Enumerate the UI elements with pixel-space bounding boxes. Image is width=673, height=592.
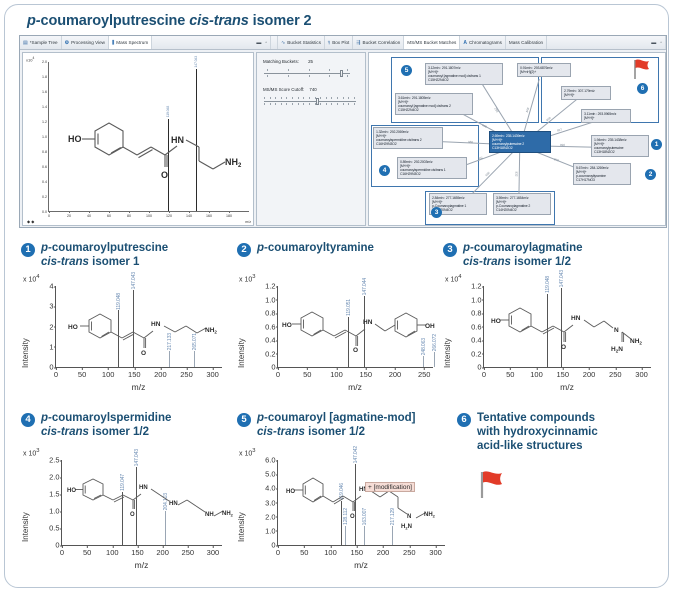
panel-4-caption-line2: isomer 1/2 — [89, 426, 149, 438]
tab-sample-tree-label: *Sample Tree — [30, 40, 58, 45]
svg-text:NH2: NH2 — [222, 511, 234, 517]
network-node-6b[interactable]: 2.79min : 307.179m/z [M+H]+ — [561, 86, 611, 100]
panel-6-caption: 6 Tentative compounds with hydroxycinnam… — [457, 412, 652, 453]
main-spectrum-x-tick: 20 — [67, 214, 71, 218]
chart-y-axis-label: Intensity — [237, 476, 246, 542]
panel-1-caption: 1 p-coumaroylputrescine cis-trans isomer… — [21, 242, 221, 270]
chart-x-tick: 150 — [128, 370, 141, 379]
chart-peak — [434, 352, 435, 367]
tabbar-divider — [271, 36, 278, 49]
chart-x-tick: 200 — [156, 548, 169, 557]
chart-y-tick: 1 — [49, 342, 53, 351]
panel-6-caption-text: Tentative compounds with hydroxycinnamic… — [477, 412, 598, 453]
main-spectrum-x-tick: 140 — [186, 214, 192, 218]
chart-x-tick: 50 — [83, 548, 91, 557]
chart-y-tick: 3.0 — [265, 498, 275, 507]
chart-y-tick: 1.2 — [471, 282, 481, 291]
network-badge-5: 5 — [401, 65, 412, 76]
network-edge-label: 903 — [485, 171, 491, 177]
panel-6-red-flag-icon — [477, 468, 507, 505]
network-node-3b[interactable]: 3.59min : 277.1654m/z [M+H]+ p-Coumaroyl… — [493, 193, 551, 215]
matching-buckets-value: 25 — [308, 59, 313, 64]
gears-icon: ⚙ — [65, 40, 69, 46]
chart-peak — [392, 526, 393, 545]
right-tab-group: ∿ Bucket Statistics ⫯ Box Plot ⇶ Bucket … — [278, 36, 547, 49]
chart-plot-area: 2.52.01.51.00.50050100150200250300119.04… — [61, 460, 222, 546]
network-node-5b[interactable]: 3.61min : 291.1805m/z [M+H]+ coumaroyl [… — [395, 93, 473, 115]
chart-peak — [169, 351, 170, 367]
main-spectrum-y-tick: 1.2 — [42, 120, 47, 124]
network-node-5a[interactable]: 3.12min : 291.1807m/z [M+H]+ coumaroyl [… — [425, 63, 503, 85]
chart-y-tick: 0.6 — [265, 322, 275, 331]
main-spectrum-x-tick: 100 — [146, 214, 152, 218]
chart-peak-label: 119.051 — [346, 299, 352, 316]
chart-peak-label: 119.047 — [120, 474, 126, 491]
chart-x-tick: 50 — [303, 370, 311, 379]
chart-peak — [194, 351, 195, 367]
panel-3-caption-line2: isomer 1/2 — [511, 256, 571, 268]
main-spectrum-plot-area: 020406080100120140160180119.048147.043 — [48, 62, 249, 212]
matching-buckets-slider[interactable] — [264, 69, 350, 77]
chart-y-tick: 0.6 — [471, 322, 481, 331]
panel-3-caption-line1: coumaroylagmatine — [474, 242, 583, 254]
chart-y-tick: 5.0 — [265, 470, 275, 479]
tab-bar: ▤ *Sample Tree ⚙ Processing View ⫼ Mass … — [20, 36, 666, 50]
panel-6-caption-line2: with hydroxycinnamic — [477, 426, 598, 438]
tab-mass-spectrum[interactable]: ⫼ Mass Spectrum — [109, 36, 152, 49]
chart-peak-label: 163.007 — [362, 508, 368, 525]
chart-x-axis-label: m/z — [483, 382, 651, 392]
chart-x-axis-label: m/z — [277, 382, 433, 392]
network-badge-2: 2 — [645, 169, 656, 180]
chart-y-tick: 0.4 — [265, 336, 275, 345]
panel-5-caption-line1: coumaroyl [agmatine-mod] — [268, 412, 416, 424]
chart-x-tick: 0 — [276, 370, 280, 379]
chart-peak-label: 217.129 — [390, 508, 396, 525]
chart-peak-label: 147.042 — [353, 446, 359, 463]
panel-1-caption-line2: isomer 1 — [89, 256, 140, 268]
panel-5: 5 p-coumaroyl [agmatine-mod] cis-trans i… — [237, 412, 457, 580]
panel-5-caption: 5 p-coumaroyl [agmatine-mod] cis-trans i… — [237, 412, 452, 440]
chart-x-tick: 300 — [206, 370, 219, 379]
main-spectrum-y-tick: 0.2 — [42, 195, 47, 199]
main-spectrum-x-tick: 120 — [166, 214, 172, 218]
chart-peak-label: 147.043 — [134, 449, 140, 466]
right-window-controls: ▬ ▫ — [547, 36, 666, 49]
main-spectrum-y-tick: 0.8 — [42, 150, 47, 154]
chart-x-tick: 200 — [377, 548, 390, 557]
chart-peak-label: 119.048 — [545, 276, 551, 293]
matching-buckets-slider-track — [264, 73, 350, 74]
left-window-controls: ▬ ▫ — [152, 36, 271, 49]
network-node-1[interactable]: 1.94min : 235.1438m/z [M+H]+ coumaroylpu… — [591, 135, 649, 157]
main-spectrum-x-tick: 160 — [206, 214, 212, 218]
panel-4-caption: 4 p-coumaroylspermidine cis-trans isomer… — [21, 412, 226, 440]
network-edge-label: 756 — [478, 155, 484, 160]
stats-icon: ∿ — [281, 40, 285, 46]
chart-x-tick: 0 — [54, 370, 58, 379]
chart-x-tick: 150 — [359, 370, 372, 379]
chart-peak-label: 119.046 — [339, 483, 345, 500]
tree-icon: ▤ — [23, 40, 28, 46]
chart-x-tick: 250 — [609, 370, 622, 379]
chart-peak-label: 147.043 — [131, 272, 137, 289]
chart-peak — [355, 464, 356, 545]
network-node-4a[interactable]: 1.32min : 292.2069m/z [M+H]+ coumaroylsp… — [373, 127, 443, 149]
panel-1: 1 p-coumaroylputrescine cis-trans isomer… — [21, 242, 233, 402]
chart-y-exponent: x 104 — [445, 274, 461, 283]
network-edge-label: 919 — [545, 116, 551, 122]
panel-1-caption-line1: coumaroylputrescine — [52, 242, 168, 254]
panel-6: 6 Tentative compounds with hydroxycinnam… — [457, 412, 657, 532]
score-cutoff-slider-thumb[interactable] — [316, 98, 319, 105]
chart-x-tick: 100 — [324, 548, 337, 557]
chart-x-tick: 50 — [78, 370, 86, 379]
panel-2-caption: 2 p-coumaroyltyramine — [237, 242, 437, 257]
chart-y-tick: 4 — [49, 282, 53, 291]
chart-x-tick: 0 — [482, 370, 486, 379]
chart-x-tick: 150 — [131, 548, 144, 557]
chart-x-tick: 50 — [300, 548, 308, 557]
chart-plot-area: 6.05.04.03.02.01.00050100150200250300128… — [277, 460, 445, 546]
score-cutoff-slider[interactable] — [264, 97, 356, 105]
panel-2-chart: x 103Intensity1.21.00.80.60.40.200501001… — [237, 276, 437, 398]
chart-y-tick: 1.0 — [265, 295, 275, 304]
main-spectrum-peak-label: 119.048 — [166, 106, 170, 117]
correlation-icon: ⇶ — [356, 40, 360, 46]
title-isomer-type: cis-trans — [189, 13, 249, 29]
panel-4: 4 p-coumaroylspermidine cis-trans isomer… — [21, 412, 233, 580]
panel-3-caption-prefix: p- — [463, 242, 474, 254]
panel-1-number: 1 — [21, 243, 35, 257]
chart-y-tick: 2.0 — [49, 473, 59, 482]
chart-y-tick: 0.8 — [265, 309, 275, 318]
chart-y-exponent: x 104 — [23, 274, 39, 283]
chart-peak-label: 217.133 — [167, 333, 173, 350]
tab-mass-calibration[interactable]: Mass Calibration — [506, 36, 547, 49]
panel-3-caption: 3 p-coumaroylagmatine cis-trans isomer 1… — [443, 242, 658, 270]
tab-chromatograms[interactable]: A Chromatograms — [460, 36, 506, 49]
chart-x-tick: 200 — [583, 370, 596, 379]
tab-processing-view[interactable]: ⚙ Processing View — [62, 36, 109, 49]
network-node-6c[interactable]: 3.11min : 293.0965m/z [M+H]+ — [581, 109, 631, 123]
chart-peak — [348, 317, 349, 367]
panel-2-number: 2 — [237, 243, 251, 257]
chart-plot-area: 1.21.00.80.60.40.20050100150200250300119… — [483, 286, 651, 368]
score-cutoff-slider-ticks-lower — [264, 103, 356, 106]
panel-5-caption-prefix: p- — [257, 412, 268, 424]
chart-peak-label: 128.112 — [343, 508, 349, 525]
panel-3: 3 p-coumaroylagmatine cis-trans isomer 1… — [443, 242, 661, 402]
tab-box-plot[interactable]: ⫯ Box Plot — [325, 36, 353, 49]
chart-peak — [133, 290, 134, 367]
tab-msms-bucket-matches-label: MS/MS Bucket Matches — [407, 40, 456, 45]
chart-plot-area: 43210050100150200250300119.048147.043217… — [55, 286, 222, 368]
chart-x-tick: 300 — [207, 548, 220, 557]
chart-x-axis-label: m/z — [277, 560, 445, 570]
panel-4-caption-line1: coumaroylspermidine — [52, 412, 172, 424]
figure-frame: p-coumaroylputrescine cis-trans isomer 2… — [4, 4, 669, 588]
network-node-2[interactable]: 5.67min : 284.1269m/z [M+H]+ p-coumaroyl… — [573, 163, 631, 185]
main-spectrum-axis-marks: ◆ ◆ — [27, 219, 34, 224]
panel-2-caption-text: p-coumaroyltyramine — [257, 242, 374, 256]
main-spectrum-x-tick: 0 — [48, 214, 50, 218]
chart-peak-label: 266.072 — [432, 334, 438, 351]
chart-y-tick: 0 — [477, 363, 481, 372]
network-node-4b[interactable]: 0.89min : 292.2003m/z [M+H]+ coumaroylsp… — [397, 157, 467, 179]
network-edge-label: 896 — [468, 140, 473, 144]
chart-y-axis-label: Intensity — [237, 302, 246, 368]
panel-5-caption-line2: isomer 1/2 — [305, 426, 365, 438]
tab-bucket-correlation[interactable]: ⇶ Bucket Correlation — [353, 36, 404, 49]
chart-plot-area: 1.21.00.80.60.40.20050100150200250119.05… — [277, 286, 433, 368]
chart-x-tick: 100 — [330, 370, 343, 379]
chart-x-tick: 300 — [429, 548, 442, 557]
chart-peak — [364, 296, 365, 367]
tab-mass-calibration-label: Mass Calibration — [509, 40, 543, 45]
chart-x-tick: 250 — [180, 370, 193, 379]
chart-x-tick: 100 — [102, 370, 115, 379]
chart-y-exponent: x 103 — [239, 274, 255, 283]
main-spectrum-y-tick: 0.6 — [42, 165, 47, 169]
panel-6-number: 6 — [457, 413, 471, 427]
modification-tag: + [modification] — [365, 482, 415, 492]
panel-3-number: 3 — [443, 243, 457, 257]
title-main: coumaroylputrescine — [41, 13, 190, 29]
score-cutoff-label: MS/MS Score Cutoff: — [263, 87, 304, 92]
chart-peak — [341, 501, 342, 545]
network-edge-label: 884 — [482, 123, 488, 129]
main-spectrum-x-unit: m/z — [245, 220, 251, 224]
main-spectrum-y-tick: 0.4 — [42, 180, 47, 184]
tab-mass-spectrum-label: Mass Spectrum — [116, 40, 148, 45]
panel-6-caption-line3: acid-like structures — [477, 440, 582, 452]
chart-y-tick: 4.0 — [265, 484, 275, 493]
panel-5-caption-isomer: cis-trans — [257, 426, 305, 438]
tab-processing-view-label: Processing View — [71, 40, 105, 45]
page-title: p-coumaroylputrescine cis-trans isomer 2 — [27, 13, 312, 29]
score-cutoff-row: MS/MS Score Cutoff: 740 — [263, 87, 317, 92]
matching-buckets-row: Matching Buckets: 25 — [263, 59, 313, 64]
chart-y-exponent: x 103 — [239, 448, 255, 457]
chart-peak-label: 147.044 — [362, 278, 368, 295]
panel-4-chart: x 103Intensity2.52.01.51.00.500501001502… — [21, 450, 226, 576]
chart-x-tick: 250 — [418, 370, 431, 379]
chart-y-tick: 1.0 — [265, 526, 275, 535]
chart-x-tick: 100 — [106, 548, 119, 557]
chart-peak — [122, 492, 123, 545]
panel-4-number: 4 — [21, 413, 35, 427]
chart-y-tick: 1.0 — [471, 295, 481, 304]
chart-x-tick: 200 — [389, 370, 402, 379]
main-spectrum-y-tick: 0.0 — [42, 210, 47, 214]
chart-peak — [136, 467, 137, 545]
minimize-icon[interactable]: ▬ — [256, 40, 261, 46]
panel-3-chart: x 104Intensity1.21.00.80.60.40.200501001… — [443, 276, 655, 398]
bucket-controls-pane: Matching Buckets: 25 MS/MS Score Cutoff:… — [256, 52, 366, 226]
main-spectrum-y-tick: 1.6 — [42, 90, 47, 94]
tab-box-plot-label: Box Plot — [332, 40, 349, 45]
matching-buckets-slider-ticks-lower — [264, 75, 350, 78]
main-spectrum-y-tick: 1.8 — [42, 75, 47, 79]
chart-y-tick: 1.5 — [49, 490, 59, 499]
network-edge-label: 932 — [515, 172, 519, 177]
panel-2: 2 p-coumaroyltyramine x 103Intensity1.21… — [237, 242, 442, 402]
right-minimize-icon[interactable]: ▬ — [651, 40, 656, 46]
network-node-center[interactable]: 2.69min : 235.1439m/z [M+H]+ coumaroylpu… — [489, 131, 551, 153]
tab-chromatograms-label: Chromatograms — [469, 40, 502, 45]
mass-spectrum-pane: x104 2.01.81.61.41.21.00.80.60.40.20.0 0… — [22, 52, 254, 226]
main-spectrum-x-tick: 40 — [87, 214, 91, 218]
tab-bucket-statistics-label: Bucket Statistics — [287, 40, 321, 45]
chart-y-tick: 0.4 — [471, 336, 481, 345]
network-node-6a[interactable]: 0.91min : 293.6876m/z [M+nH](2)+ — [517, 63, 571, 77]
panel-3-caption-text: p-coumaroylagmatine cis-trans isomer 1/2 — [463, 242, 583, 270]
chart-x-tick: 0 — [276, 548, 280, 557]
chart-peak — [423, 356, 424, 367]
chromatogram-icon: A — [463, 40, 467, 46]
main-spectrum-y-tick: 1.4 — [42, 105, 47, 109]
chart-y-tick: 0.2 — [265, 349, 275, 358]
boxplot-icon: ⫯ — [328, 40, 330, 46]
network-edge-label: 877 — [553, 157, 559, 163]
chart-y-tick: 0 — [271, 541, 275, 550]
panel-6-caption-line1: Tentative compounds — [477, 412, 595, 424]
score-cutoff-value: 740 — [309, 87, 316, 92]
maximize-icon[interactable]: ▫ — [265, 40, 267, 46]
network-badge-3: 3 — [431, 207, 442, 218]
chart-y-tick: 3 — [49, 302, 53, 311]
chart-y-tick: 0 — [55, 541, 59, 550]
chart-peak-label: 147.043 — [559, 270, 565, 287]
chart-y-exponent: x 103 — [23, 448, 39, 457]
panel-1-caption-text: p-coumaroylputrescine cis-trans isomer 1 — [41, 242, 168, 270]
chart-y-axis-label: Intensity — [21, 302, 30, 368]
chart-peak — [165, 511, 166, 545]
main-spectrum-peak — [196, 69, 197, 211]
chart-y-axis-label: Intensity — [443, 302, 452, 368]
panel-1-chart: x 104Intensity43210050100150200250300119… — [21, 276, 226, 398]
matching-buckets-slider-thumb[interactable] — [340, 70, 343, 77]
red-flag-icon — [631, 57, 653, 86]
chart-y-tick: 0.2 — [471, 349, 481, 358]
main-spectrum-x-tick: 80 — [127, 214, 131, 218]
panel-5-caption-text: p-coumaroyl [agmatine-mod] cis-trans iso… — [257, 412, 415, 440]
chart-x-axis-label: m/z — [61, 560, 222, 570]
chart-y-tick: 0.8 — [471, 309, 481, 318]
chart-x-tick: 0 — [60, 548, 64, 557]
panel-2-caption-prefix: p- — [257, 242, 268, 254]
chart-peak-label: 248.063 — [421, 338, 427, 355]
score-cutoff-slider-track — [264, 101, 356, 102]
chart-peak — [118, 310, 119, 367]
panel-1-caption-prefix: p- — [41, 242, 52, 254]
chart-y-tick: 2 — [49, 322, 53, 331]
chart-y-tick: 0 — [49, 363, 53, 372]
panel-4-caption-prefix: p- — [41, 412, 52, 424]
chart-y-axis-label: Intensity — [21, 476, 30, 542]
title-prefix: p- — [27, 13, 41, 29]
tab-bucket-statistics[interactable]: ∿ Bucket Statistics — [278, 36, 325, 49]
chart-y-tick: 0.5 — [49, 524, 59, 533]
main-spectrum-peak — [168, 119, 169, 211]
chart-x-tick: 50 — [506, 370, 514, 379]
chart-x-tick: 250 — [182, 548, 195, 557]
chart-x-tick: 250 — [403, 548, 416, 557]
application-window: ▤ *Sample Tree ⚙ Processing View ⫼ Mass … — [19, 35, 667, 228]
main-spectrum-y-tick: 2.0 — [42, 60, 47, 64]
tab-bucket-correlation-label: Bucket Correlation — [363, 40, 401, 45]
network-edge-label: 896 — [560, 143, 565, 147]
chart-x-tick: 150 — [557, 370, 570, 379]
tab-sample-tree[interactable]: ▤ *Sample Tree — [20, 36, 62, 49]
network-graph[interactable]: 852884848919997896877896756903932 2.69mi… — [369, 53, 665, 225]
chart-y-tick: 1.0 — [49, 507, 59, 516]
chart-peak-label: 204.103 — [163, 493, 169, 510]
chart-x-tick: 300 — [635, 370, 648, 379]
chart-peak — [364, 526, 365, 545]
panel-2-caption-line1: coumaroyltyramine — [268, 242, 374, 254]
main-spectrum-plot: x104 2.01.81.61.41.21.00.80.60.40.20.0 0… — [23, 53, 253, 225]
matching-buckets-slider-ticks — [264, 69, 350, 72]
chart-y-tick: 1.2 — [265, 282, 275, 291]
network-badge-4: 4 — [379, 165, 390, 176]
spectrum-icon: ⫼ — [112, 40, 114, 46]
title-suffix: isomer 2 — [249, 13, 312, 29]
chart-x-tick: 100 — [530, 370, 543, 379]
chart-y-tick: 2.0 — [265, 512, 275, 521]
main-spectrum-y-axis: 2.01.81.61.41.21.00.80.60.40.20.0 — [26, 62, 48, 212]
score-cutoff-slider-ticks — [264, 97, 356, 100]
chart-y-tick: 0 — [271, 363, 275, 372]
main-spectrum-x-tick: 180 — [226, 214, 232, 218]
chart-peak — [345, 526, 346, 545]
panel-5-number: 5 — [237, 413, 251, 427]
chart-peak-label: 265.071 — [192, 333, 198, 350]
main-spectrum-x-tick: 60 — [107, 214, 111, 218]
msms-network-pane: 852884848919997896877896756903932 2.69mi… — [368, 52, 666, 226]
panel-4-caption-text: p-coumaroylspermidine cis-trans isomer 1… — [41, 412, 171, 440]
left-tab-group: ▤ *Sample Tree ⚙ Processing View ⫼ Mass … — [20, 36, 152, 49]
chart-peak — [561, 288, 562, 367]
chart-peak-label: 119.048 — [116, 293, 122, 310]
chart-x-tick: 200 — [154, 370, 167, 379]
matching-buckets-label: Matching Buckets: — [263, 59, 299, 64]
chart-x-axis-label: m/z — [55, 382, 222, 392]
chart-y-tick: 2.5 — [49, 456, 59, 465]
panel-5-chart: x 103Intensity6.05.04.03.02.01.000501001… — [237, 450, 449, 576]
panel-1-caption-isomer: cis-trans — [41, 256, 89, 268]
panel-4-caption-isomer: cis-trans — [41, 426, 89, 438]
main-spectrum-y-tick: 1.0 — [42, 135, 47, 139]
right-maximize-icon[interactable]: ▫ — [660, 40, 662, 46]
chart-peak — [547, 294, 548, 367]
chart-x-tick: 150 — [351, 548, 364, 557]
tab-msms-bucket-matches[interactable]: MS/MS Bucket Matches — [404, 36, 460, 49]
network-badge-1: 1 — [651, 139, 662, 150]
panel-3-caption-isomer: cis-trans — [463, 256, 511, 268]
main-spectrum-peak-label: 147.043 — [194, 56, 198, 68]
chart-y-tick: 6.0 — [265, 456, 275, 465]
